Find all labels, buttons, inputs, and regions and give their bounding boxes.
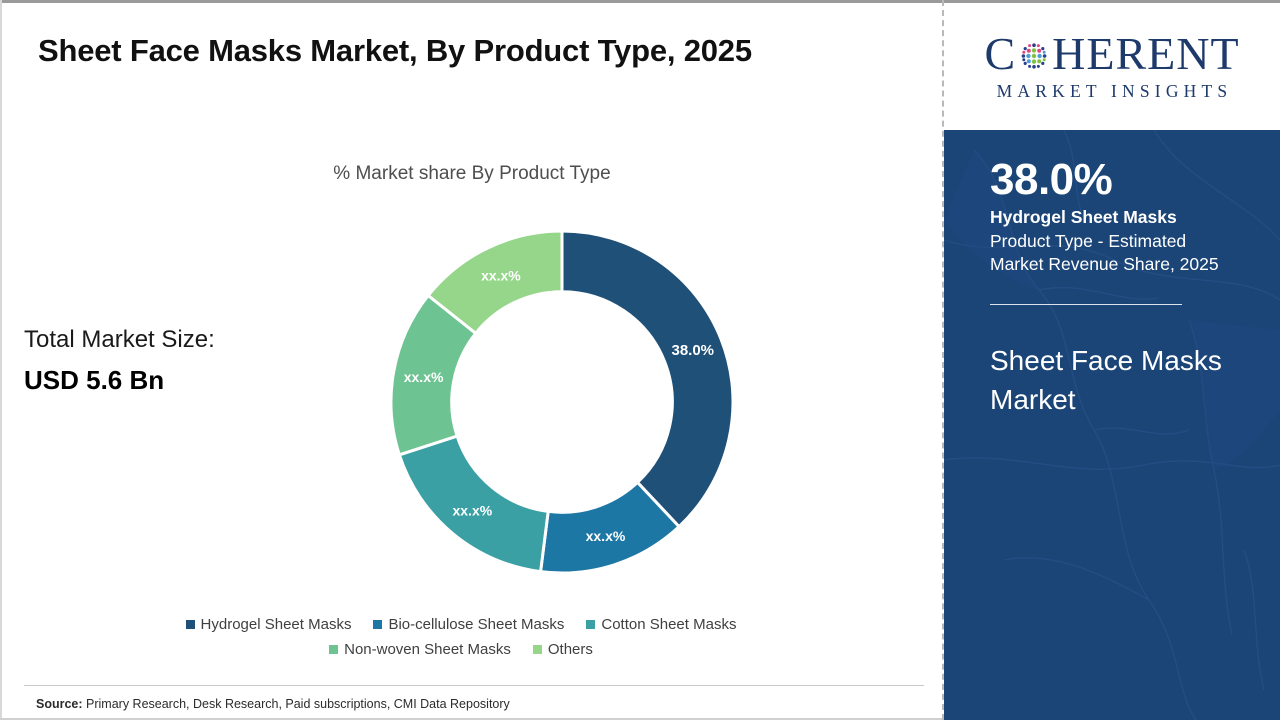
slice-value-label: xx.x%	[481, 267, 521, 283]
source-label: Source:	[36, 697, 83, 711]
highlight-panel: 38.0% Hydrogel Sheet Masks Product Type …	[944, 130, 1280, 720]
slice-value-label: xx.x%	[586, 528, 626, 544]
dotted-globe-icon	[1017, 39, 1051, 73]
donut-svg: 38.0%xx.x%xx.x%xx.x%xx.x%	[390, 230, 734, 574]
logo-tagline: MARKET INSIGHTS	[992, 81, 1233, 102]
legend-swatch-icon	[186, 620, 195, 629]
legend-label: Hydrogel Sheet Masks	[201, 616, 352, 633]
total-market-size-value: USD 5.6 Bn	[24, 365, 164, 396]
page-title: Sheet Face Masks Market, By Product Type…	[38, 33, 752, 69]
legend-item[interactable]: Cotton Sheet Masks	[586, 616, 736, 633]
stat-value: 38.0%	[990, 157, 1240, 203]
legend-label: Bio-cellulose Sheet Masks	[388, 616, 564, 633]
stat-category-name: Hydrogel Sheet Masks	[990, 207, 1240, 229]
chart-legend: Hydrogel Sheet MasksBio-cellulose Sheet …	[2, 616, 942, 658]
slice-value-label: 38.0%	[671, 342, 714, 359]
chart-canvas: Sheet Face Masks Market, By Product Type…	[0, 0, 1280, 720]
right-panel: C	[942, 0, 1280, 720]
total-market-size-label: Total Market Size:	[24, 326, 215, 354]
source-value: Primary Research, Desk Research, Paid su…	[83, 697, 510, 711]
legend-label: Others	[548, 641, 593, 658]
panel-market-name: Sheet Face Masks Market	[990, 341, 1240, 419]
brand-logo: C	[944, 3, 1280, 130]
panel-divider	[990, 304, 1182, 305]
source-note: Source: Primary Research, Desk Research,…	[36, 697, 510, 711]
chart-main-area: Sheet Face Masks Market, By Product Type…	[2, 3, 942, 718]
stat-description: Product Type - Estimated Market Revenue …	[990, 230, 1240, 276]
legend-swatch-icon	[586, 620, 595, 629]
source-divider	[24, 685, 924, 686]
donut-slice	[562, 231, 733, 527]
legend-item[interactable]: Hydrogel Sheet Masks	[186, 616, 352, 633]
legend-swatch-icon	[373, 620, 382, 629]
slice-value-label: xx.x%	[452, 502, 492, 518]
legend-item[interactable]: Others	[533, 641, 593, 658]
logo-letters-herent: HERENT	[1052, 31, 1239, 77]
legend-label: Cotton Sheet Masks	[601, 616, 736, 633]
logo-letter-c: C	[984, 31, 1016, 77]
legend-label: Non-woven Sheet Masks	[344, 641, 511, 658]
panel-content: 38.0% Hydrogel Sheet Masks Product Type …	[990, 157, 1240, 420]
chart-subtitle: % Market share By Product Type	[2, 163, 942, 185]
legend-swatch-icon	[533, 645, 542, 654]
donut-chart: 38.0%xx.x%xx.x%xx.x%xx.x%	[390, 230, 734, 574]
legend-item[interactable]: Bio-cellulose Sheet Masks	[373, 616, 564, 633]
slice-value-label: xx.x%	[404, 369, 444, 385]
logo-wordmark: C	[984, 31, 1239, 77]
legend-item[interactable]: Non-woven Sheet Masks	[329, 641, 511, 658]
legend-swatch-icon	[329, 645, 338, 654]
